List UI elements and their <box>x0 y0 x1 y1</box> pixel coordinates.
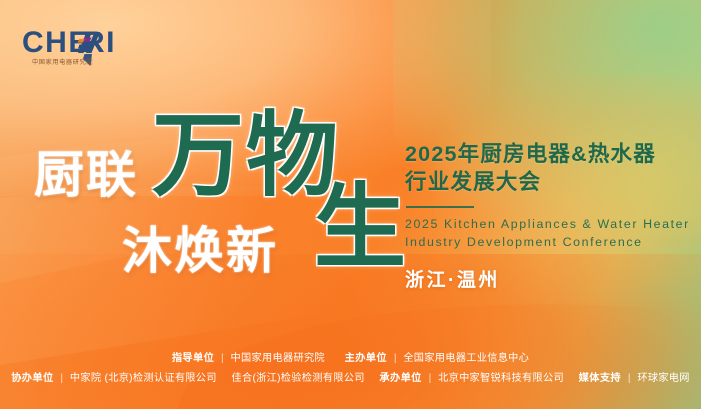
cheari-logo-icon: CHE RI 中国家用电器研究院 <box>22 26 150 68</box>
credit-row-guiding: 指导单位 | 中国家用电器研究院 主办单位 | 全国家用电器工业信息中心 <box>0 351 701 367</box>
credit-value-guiding: 中国家用电器研究院 <box>231 353 325 364</box>
cheari-logo-subtext: 中国家用电器研究院 <box>32 58 93 66</box>
slogan-line1-white: 厨联 <box>34 150 138 200</box>
slogan-line2-green: 生 <box>314 182 408 274</box>
conference-banner: CHE RI 中国家用电器研究院 厨联 万物 沐焕新 生 2025年厨房电器&热… <box>0 0 701 409</box>
credit-label-host: 主办单位 <box>345 353 387 364</box>
organizer-credits: 指导单位 | 中国家用电器研究院 主办单位 | 全国家用电器工业信息中心 协办单… <box>0 351 701 387</box>
credit-separator: | <box>217 353 228 364</box>
cheari-logo: CHE RI 中国家用电器研究院 <box>22 26 150 68</box>
credit-value-undertaker: 北京中家智锐科技有限公司 <box>438 373 564 384</box>
conference-location: 浙江·温州 <box>405 265 691 292</box>
credit-value-media: 环球家电网 <box>637 373 689 384</box>
credit-separator: | <box>624 373 635 384</box>
slogan-line1-green: 万物 <box>152 110 340 202</box>
headline-cn-line2: 行业发展大会 <box>405 168 691 196</box>
headline-en-line2: Industry Development Conference <box>405 234 691 252</box>
credit-separator: | <box>425 373 436 384</box>
headline-cn-line1: 2025年厨房电器&热水器 <box>405 140 691 168</box>
credit-label-guiding: 指导单位 <box>172 353 214 364</box>
credit-label-media: 媒体支持 <box>579 373 621 384</box>
credit-value-host: 全国家用电器工业信息中心 <box>403 353 529 364</box>
main-slogan: 厨联 万物 沐焕新 生 <box>26 108 396 303</box>
headline-en-line1: 2025 Kitchen Appliances & Water Heater <box>405 216 691 234</box>
credit-value-coorganizer-1: 中家院 (北京)检测认证有限公司 <box>70 373 217 384</box>
credit-label-undertaker: 承办单位 <box>379 373 421 384</box>
conference-headline: 2025年厨房电器&热水器 行业发展大会 2025 Kitchen Applia… <box>405 140 691 292</box>
slogan-line2-white: 沐焕新 <box>122 226 278 276</box>
headline-divider <box>406 206 474 209</box>
credit-row-coorganizers: 协办单位 | 中家院 (北京)检测认证有限公司 佳合(浙江)检验检测有限公司 承… <box>0 371 701 387</box>
credit-separator: | <box>390 353 401 364</box>
credit-label-coorganizer: 协办单位 <box>11 373 53 384</box>
credit-value-coorganizer-2: 佳合(浙江)检验检测有限公司 <box>231 373 364 384</box>
credit-separator: | <box>56 373 67 384</box>
